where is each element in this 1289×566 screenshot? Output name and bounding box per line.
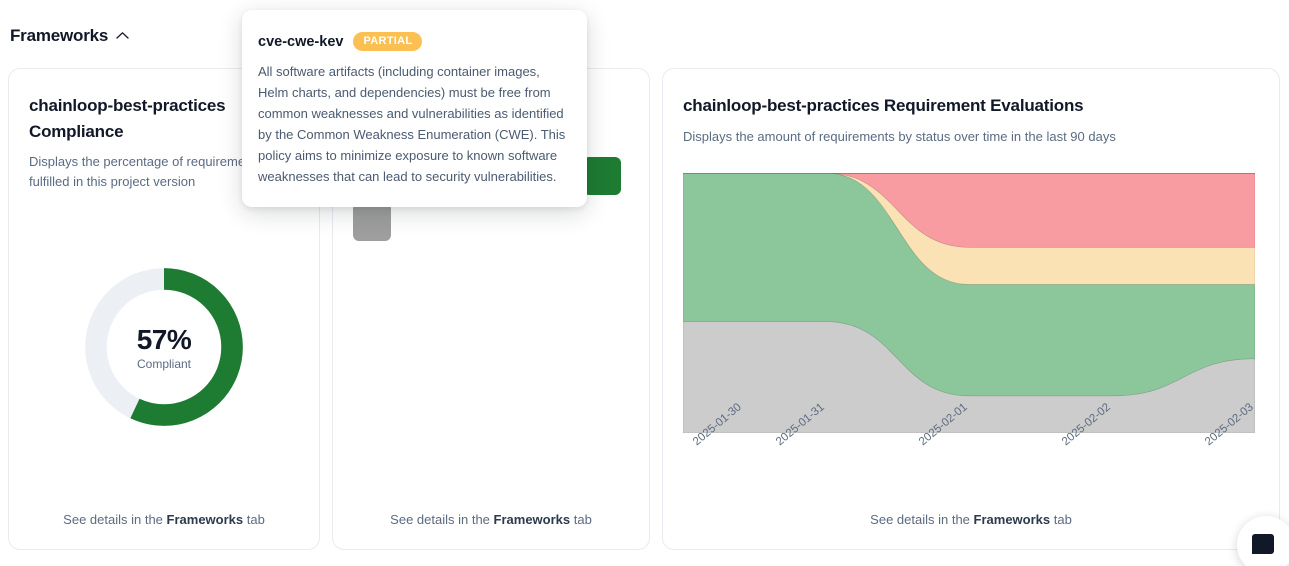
donut-percent: 57% bbox=[137, 324, 192, 356]
x-axis-tick-labels: 2025-01-302025-01-312025-02-012025-02-02… bbox=[683, 433, 1255, 499]
footer-suffix: tab bbox=[1050, 512, 1072, 527]
policy-tooltip: cve-cwe-kev PARTIAL All software artifac… bbox=[242, 10, 587, 207]
requirement-evaluations-card-head: chainloop-best-practices Requirement Eva… bbox=[663, 69, 1279, 147]
requirement-evaluations-card-subtitle: Displays the amount of requirements by s… bbox=[683, 127, 1259, 147]
compliance-card-footer[interactable]: See details in the Frameworks tab bbox=[9, 512, 319, 549]
requirement-evaluations-card-footer[interactable]: See details in the Frameworks tab bbox=[663, 512, 1279, 549]
footer-link-frameworks[interactable]: Frameworks bbox=[974, 512, 1051, 527]
page-root: Frameworks chainloop-best-practices Comp… bbox=[0, 0, 1289, 566]
stacked-area-chart-svg[interactable] bbox=[683, 173, 1255, 433]
donut-center-label: 57% Compliant bbox=[81, 264, 247, 430]
policy-name: cve-cwe-kev bbox=[258, 34, 343, 50]
stacked-area-chart: 2025-01-302025-01-312025-02-012025-02-02… bbox=[683, 173, 1255, 503]
footer-prefix: See details in the bbox=[870, 512, 973, 527]
footer-link-frameworks[interactable]: Frameworks bbox=[494, 512, 571, 527]
chevron-up-icon[interactable] bbox=[116, 27, 129, 45]
page-title: Frameworks bbox=[10, 26, 108, 46]
donut-chart-wrap: 57% Compliant bbox=[9, 182, 319, 512]
chat-bubble-icon bbox=[1252, 534, 1274, 554]
requirement-evaluations-card-title: chainloop-best-practices Requirement Eva… bbox=[683, 93, 1259, 119]
footer-prefix: See details in the bbox=[63, 512, 166, 527]
chat-bubble-button[interactable] bbox=[1237, 516, 1289, 566]
frameworks-section-header[interactable]: Frameworks bbox=[10, 26, 129, 46]
footer-prefix: See details in the bbox=[390, 512, 493, 527]
footer-suffix: tab bbox=[243, 512, 265, 527]
policy-description: All software artifacts (including contai… bbox=[258, 61, 567, 187]
status-square-passed-4[interactable] bbox=[583, 157, 621, 195]
status-square-unknown[interactable] bbox=[353, 203, 391, 241]
compliance-donut-chart: 57% Compliant bbox=[81, 264, 247, 430]
footer-link-frameworks[interactable]: Frameworks bbox=[167, 512, 244, 527]
requirements-status-card-footer[interactable]: See details in the Frameworks tab bbox=[333, 512, 649, 549]
requirement-evaluations-card: chainloop-best-practices Requirement Eva… bbox=[662, 68, 1280, 550]
policy-tooltip-header: cve-cwe-kev PARTIAL bbox=[258, 32, 567, 51]
framework-cards-row: chainloop-best-practices Compliance Disp… bbox=[8, 68, 1280, 550]
status-badge: PARTIAL bbox=[353, 32, 422, 51]
donut-label: Compliant bbox=[137, 357, 191, 371]
footer-suffix: tab bbox=[570, 512, 592, 527]
